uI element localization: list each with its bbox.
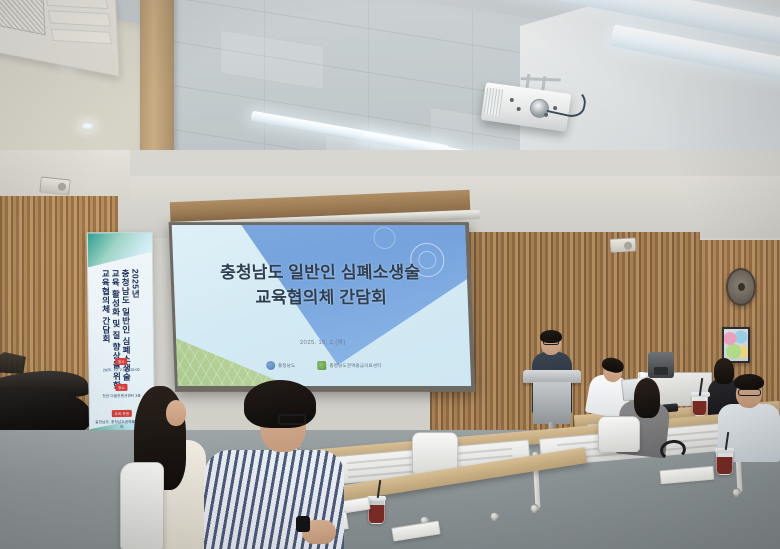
attendee-glasses bbox=[738, 389, 761, 396]
iced-coffee-cup bbox=[692, 394, 707, 416]
chair-caster bbox=[490, 512, 499, 521]
banner-datetime: 2025. 10. 2.(목) 10:00 bbox=[93, 368, 149, 374]
wall-speaker bbox=[610, 237, 637, 252]
attendee-front-striped bbox=[204, 380, 356, 549]
attendee-hair bbox=[634, 378, 660, 418]
iced-coffee-cup bbox=[716, 450, 733, 475]
slide-title-line-1: 충청남도 일반인 심폐소생술 bbox=[173, 261, 467, 286]
slide-circle-decor bbox=[373, 227, 396, 249]
slide-logo-province: 충청남도 bbox=[266, 361, 296, 370]
slide-title-block: 충청남도 일반인 심폐소생술 교육협의체 간담회 bbox=[173, 261, 468, 310]
lectern-body bbox=[533, 382, 571, 424]
attendee-hair bbox=[734, 374, 764, 390]
banner-tag-datetime: 일시 bbox=[115, 358, 128, 365]
ac-vane bbox=[45, 0, 109, 9]
ac-vane bbox=[51, 29, 112, 45]
medical-center-logo-icon bbox=[317, 361, 326, 370]
wall-speaker bbox=[39, 176, 71, 195]
presentation-slide: 충청남도 일반인 심폐소생술 교육협의체 간담회 2025. 10. 2.(목)… bbox=[172, 225, 471, 386]
medical-center-logo-text: 충청남도권역응급의료센터 bbox=[329, 362, 381, 368]
projection-screen: 충청남도 일반인 심폐소생술 교육협의체 간담회 2025. 10. 2.(목)… bbox=[169, 222, 476, 392]
slide-title-line-2: 교육협의체 간담회 bbox=[174, 286, 468, 311]
slide-date: 2025. 10. 2.(목) bbox=[176, 337, 470, 346]
presenter-glasses bbox=[543, 340, 559, 345]
ac-vane bbox=[48, 10, 111, 27]
slide-logo-medical-center: 충청남도권역응급의료센터 bbox=[317, 361, 381, 370]
coffee-machine bbox=[648, 352, 674, 378]
banner-top-graphic bbox=[88, 233, 152, 274]
attendee-glasses bbox=[278, 414, 306, 425]
slide-green-graphic bbox=[172, 316, 319, 386]
province-logo-icon bbox=[266, 361, 275, 370]
attendee-head bbox=[166, 400, 186, 426]
province-logo-text: 충청남도 bbox=[278, 362, 296, 368]
slide-logo-row: 충청남도 충청남도권역응급의료센터 bbox=[177, 361, 471, 370]
wrist-watch bbox=[296, 516, 310, 532]
table-caster bbox=[530, 504, 539, 513]
wall-clock bbox=[726, 268, 756, 306]
chair bbox=[598, 416, 640, 452]
recessed-downlight bbox=[80, 122, 95, 130]
seminar-room-photo: 2025년 충청남도 일반인 심폐소생술 교육 활성화 및 질 향상을 위한 교… bbox=[0, 0, 780, 549]
iced-coffee-cup bbox=[368, 498, 385, 524]
projector-vent bbox=[484, 87, 504, 116]
table-caster bbox=[732, 488, 741, 497]
ac-grill bbox=[0, 0, 46, 35]
chair bbox=[120, 462, 164, 549]
